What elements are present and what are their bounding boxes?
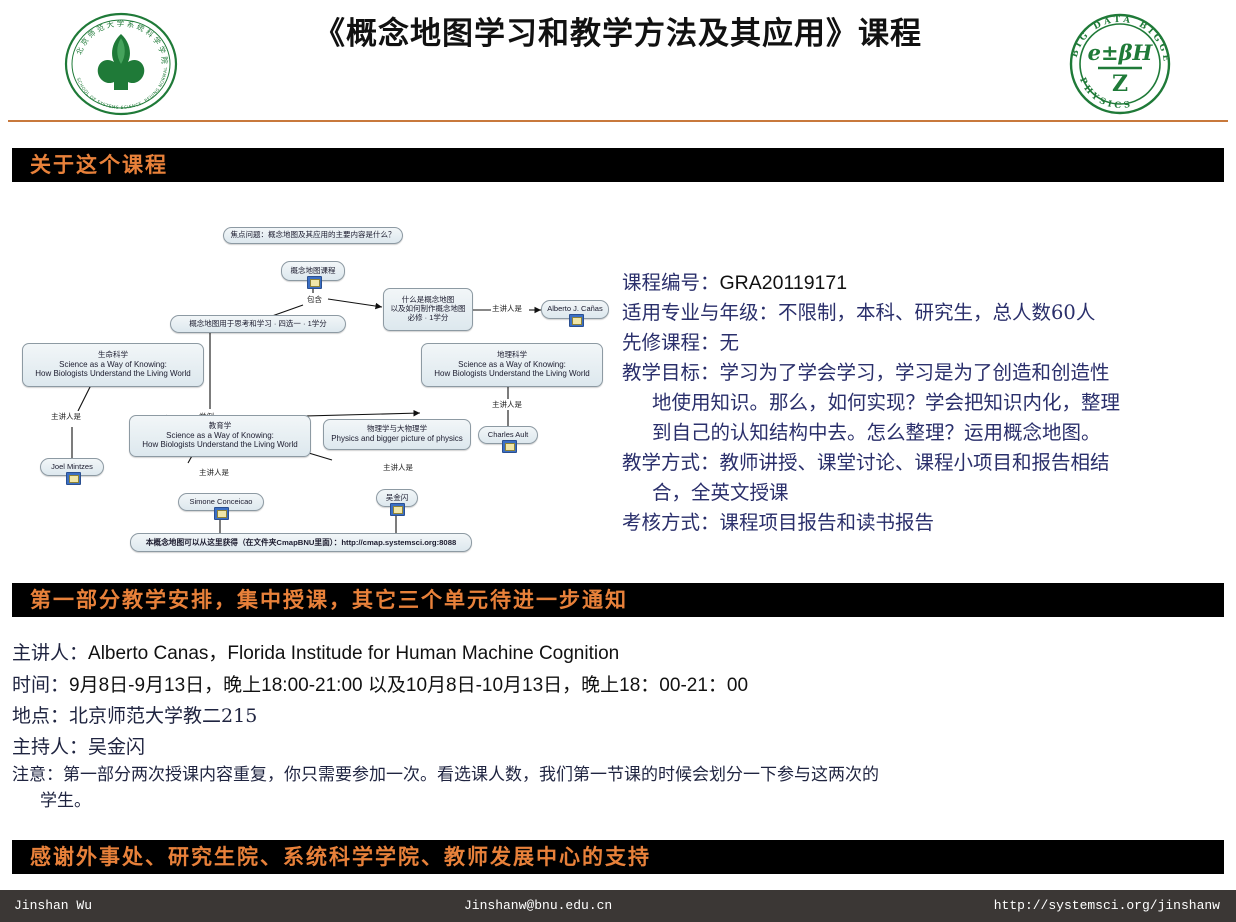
course-major-value: 不限制，本科、研究生，总人数60人	[778, 301, 1095, 324]
course-method-line1: 教师讲授、课堂讨论、课程小项目和报告相结	[720, 451, 1110, 474]
cmap-focus-question-text: 焦点问题：概念地图及其应用的主要内容是什么？	[231, 231, 396, 240]
cmap-person-name: 吴金闪	[386, 494, 409, 503]
part1-details: 主讲人：Alberto Canas，Florida Institude for …	[12, 638, 1228, 762]
cmap-node-en2: How Biologists Understand the Living Wor…	[35, 369, 190, 378]
course-prereq-value: 无	[720, 331, 740, 354]
cmap-node-text: 概念地图用于思考和学习 · 四选一 · 1学分	[189, 320, 327, 329]
cmap-node-en1: Science as a Way of Knowing:	[166, 431, 274, 440]
slide-footer: Jinshan Wu Jinshanw@bnu.edu.cn http://sy…	[0, 890, 1236, 922]
concept-map: 焦点问题：概念地图及其应用的主要内容是什么？ 概念地图课程 包含 什么是概念地图…	[10, 215, 610, 565]
cmap-node-en1: Science as a Way of Knowing:	[458, 360, 566, 369]
note-line1-row: 注意：第一部分两次授课内容重复，你只需要参加一次。看选课人数，我们第一节课的时候…	[12, 762, 1228, 788]
time-row: 时间：9月8日-9月13日，晚上18:00-21:00 以及10月8日-10月1…	[12, 670, 1228, 702]
cmap-link-label-lecturer-mintzes: 主讲人是	[50, 411, 82, 422]
time-value: 9月8日-9月13日，晚上18:00-21:00 以及10月8日-10月13日，…	[69, 675, 748, 696]
place-value: 北京师范大学教二215	[69, 705, 257, 727]
cmap-person-name: Joel Mintzes	[51, 463, 93, 472]
course-code-row: 课程编号：GRA20119171	[622, 268, 1228, 298]
cmap-node-life-science: 生命科学 Science as a Way of Knowing: How Bi…	[22, 343, 204, 387]
host-value: 吴金闪	[88, 736, 145, 758]
place-row: 地点：北京师范大学教二215	[12, 701, 1228, 732]
course-exam-value: 课程项目报告和读书报告	[720, 511, 935, 534]
cmap-node-en1: Physics and bigger picture of physics	[331, 434, 463, 443]
host-label: 主持人：	[12, 736, 88, 758]
course-prereq-row: 先修课程：无	[622, 328, 1228, 358]
note-label: 注意：	[12, 765, 63, 785]
cmap-node-education: 教育学 Science as a Way of Knowing: How Bio…	[129, 415, 311, 457]
course-major-row: 适用专业与年级：不限制，本科、研究生，总人数60人	[622, 298, 1228, 328]
cmap-link-label-lecturer-wu: 主讲人是	[382, 462, 414, 473]
cmap-link-label-lecturer-canas: 主讲人是	[491, 303, 523, 314]
course-goal-line2: 地使用知识。那么，如何实现？学会把知识内化，整理	[652, 391, 1120, 414]
course-code-value: GRA20119171	[720, 272, 848, 294]
part1-note: 注意：第一部分两次授课内容重复，你只需要参加一次。看选课人数，我们第一节课的时候…	[12, 762, 1228, 814]
note-line1: 第一部分两次授课内容重复，你只需要参加一次。看选课人数，我们第一节课的时候会划分…	[63, 765, 879, 785]
speaker-label: 主讲人：	[12, 642, 88, 664]
cmap-person-name: Alberto J. Cañas	[547, 305, 602, 314]
host-row: 主持人：吴金闪	[12, 732, 1228, 763]
header-divider	[8, 120, 1228, 122]
resource-icon[interactable]	[390, 503, 405, 516]
course-prereq-label: 先修课程：	[622, 331, 720, 354]
cmap-node-cn: 教育学	[209, 422, 232, 431]
resource-icon[interactable]	[307, 276, 322, 289]
course-major-label: 适用专业与年级：	[622, 301, 778, 324]
time-label: 时间：	[12, 674, 69, 696]
big-data-bigger-physics-seal-icon: e±βH Z BIG DATA BIGGER PHYSICS	[1064, 12, 1176, 116]
cmap-root-text: 概念地图课程	[291, 267, 336, 276]
cmap-source-note[interactable]: 本概念地图可以从这里获得（在文件夹CmapBNU里面）：http://cmap.…	[130, 533, 472, 552]
slide-header: 北京师范大学系统科学学院 SCHOOL OF SYSTEMS SCIENCE, …	[0, 0, 1236, 122]
course-method-line2: 合，全英文授课	[652, 481, 789, 504]
course-goal-line3: 到自己的认知结构中去。怎么整理？运用概念地图。	[652, 421, 1101, 444]
speaker-value: Alberto Canas，Florida Institude for Huma…	[88, 643, 619, 664]
cmap-person-name: Simone Conceicao	[190, 498, 253, 507]
cmap-source-note-text: 本概念地图可以从这里获得（在文件夹CmapBNU里面）：http://cmap.…	[146, 538, 457, 547]
svg-text:e±βH: e±βH	[1088, 40, 1154, 65]
section-header-part1: 第一部分教学安排，集中授课，其它三个单元待进一步通知	[12, 583, 1224, 617]
cmap-node-geo-science: 地理科学 Science as a Way of Knowing: How Bi…	[421, 343, 603, 387]
cmap-node-what-is-cmap: 什么是概念地图 以及如何制作概念地图 必修 · 1学分	[383, 288, 473, 331]
course-info-panel: 课程编号：GRA20119171 适用专业与年级：不限制，本科、研究生，总人数6…	[622, 268, 1228, 538]
course-goal-line1: 学习为了学会学习，学习是为了创造和创造性	[720, 361, 1110, 384]
course-goal-line2-row: 地使用知识。那么，如何实现？学会把知识内化，整理	[622, 388, 1228, 418]
cmap-link-label-lecturer-ault: 主讲人是	[491, 399, 523, 410]
cmap-link-label-lecturer-conceicao: 主讲人是	[198, 467, 230, 478]
cmap-node-cmap-for-learning: 概念地图用于思考和学习 · 四选一 · 1学分	[170, 315, 346, 333]
cmap-node-en2: How Biologists Understand the Living Wor…	[434, 369, 589, 378]
course-goal-label: 教学目标：	[622, 361, 720, 384]
speaker-row: 主讲人：Alberto Canas，Florida Institude for …	[12, 638, 1228, 670]
course-code-label: 课程编号：	[622, 271, 720, 294]
cmap-node-focus-question: 焦点问题：概念地图及其应用的主要内容是什么？	[223, 227, 403, 244]
course-method-label: 教学方式：	[622, 451, 720, 474]
course-method-line2-row: 合，全英文授课	[622, 478, 1228, 508]
place-label: 地点：	[12, 705, 69, 727]
section-header-about: 关于这个课程	[12, 148, 1224, 182]
cmap-node-en2: How Biologists Understand the Living Wor…	[142, 440, 297, 449]
cmap-person-name: Charles Ault	[488, 431, 528, 440]
resource-icon[interactable]	[502, 440, 517, 453]
page-title: 《概念地图学习和教学方法及其应用》课程	[0, 8, 1236, 53]
course-exam-label: 考核方式：	[622, 511, 720, 534]
section-header-thanks: 感谢外事处、研究生院、系统科学学院、教师发展中心的支持	[12, 840, 1224, 874]
resource-icon[interactable]	[214, 507, 229, 520]
course-goal-line3-row: 到自己的认知结构中去。怎么整理？运用概念地图。	[622, 418, 1228, 448]
resource-icon[interactable]	[569, 314, 584, 327]
cmap-node-cn: 地理科学	[497, 351, 527, 360]
course-method-row: 教学方式：教师讲授、课堂讨论、课程小项目和报告相结	[622, 448, 1228, 478]
course-goal-row: 教学目标：学习为了学会学习，学习是为了创造和创造性	[622, 358, 1228, 388]
cmap-node-line3: 必修 · 1学分	[408, 314, 449, 323]
cmap-node-cn: 物理学与大物理学	[367, 425, 427, 434]
footer-author: Jinshan Wu	[14, 898, 92, 913]
footer-email[interactable]: Jinshanw@bnu.edu.cn	[464, 898, 612, 913]
cmap-node-cn: 生命科学	[98, 351, 128, 360]
note-line2: 学生。	[12, 788, 1228, 814]
cmap-node-en1: Science as a Way of Knowing:	[59, 360, 167, 369]
resource-icon[interactable]	[66, 472, 81, 485]
cmap-node-physics: 物理学与大物理学 Physics and bigger picture of p…	[323, 419, 471, 450]
svg-text:Z: Z	[1112, 71, 1128, 97]
course-exam-row: 考核方式：课程项目报告和读书报告	[622, 508, 1228, 538]
footer-url[interactable]: http://systemsci.org/jinshanw	[994, 898, 1220, 913]
cmap-link-label-include: 包含	[306, 294, 323, 305]
